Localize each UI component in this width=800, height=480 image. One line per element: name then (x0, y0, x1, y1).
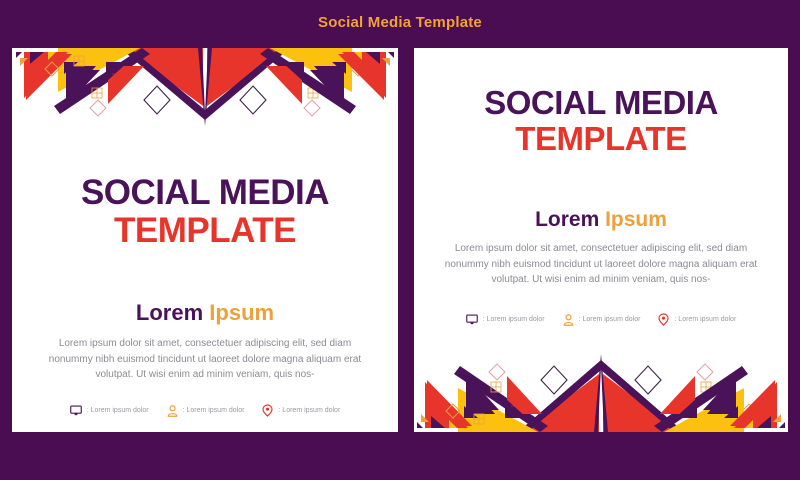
left-card-subheading: Lorem Ipsum (12, 300, 398, 326)
contact-label: : Lorem ipsum dolor (483, 316, 545, 323)
location-pin-icon (658, 313, 669, 326)
monitor-icon (70, 405, 82, 416)
contact-item[interactable]: : Lorem ipsum dolor (70, 405, 149, 416)
location-pin-icon (262, 404, 273, 417)
left-card-body-text: Lorem ipsum dolor sit amet, consectetuer… (48, 336, 362, 383)
contact-item[interactable]: : Lorem ipsum dolor (167, 405, 245, 417)
contact-label: : Lorem ipsum dolor (87, 407, 149, 414)
contact-item[interactable]: : Lorem ipsum dolor (466, 314, 545, 325)
contact-label: : Lorem ipsum dolor (183, 407, 245, 414)
contact-item[interactable]: : Lorem ipsum dolor (262, 404, 340, 417)
left-card-headline: SOCIAL MEDIA TEMPLATE (12, 174, 398, 250)
right-template-card[interactable]: SOCIAL MEDIA TEMPLATE Lorem Ipsum Lorem … (414, 48, 788, 432)
headline-line-2: TEMPLATE (12, 212, 398, 250)
right-card-subheading: Lorem Ipsum (414, 208, 788, 232)
poster-canvas: Social Media Template (0, 0, 800, 480)
person-icon (167, 405, 178, 417)
subheading-part-1: Lorem (136, 300, 203, 325)
left-template-card[interactable]: SOCIAL MEDIA TEMPLATE Lorem Ipsum Lorem … (12, 48, 398, 432)
contact-label: : Lorem ipsum dolor (278, 407, 340, 414)
left-card-contact-row: : Lorem ipsum dolor : Lorem ipsum dolor … (32, 404, 378, 417)
contact-item[interactable]: : Lorem ipsum dolor (563, 314, 641, 326)
right-card-contact-row: : Lorem ipsum dolor : Lorem ipsum dolor … (432, 313, 770, 326)
geometric-pattern-top (12, 48, 398, 140)
right-card-headline: SOCIAL MEDIA TEMPLATE (414, 85, 788, 156)
contact-item[interactable]: : Lorem ipsum dolor (658, 313, 736, 326)
page-title: Social Media Template (0, 14, 800, 31)
subheading-part-2: Ipsum (209, 300, 274, 325)
subheading-part-1: Lorem (535, 208, 599, 231)
right-card-body-text: Lorem ipsum dolor sit amet, consectetuer… (444, 241, 758, 288)
monitor-icon (466, 314, 478, 325)
contact-label: : Lorem ipsum dolor (674, 316, 736, 323)
headline-line-1: SOCIAL MEDIA (12, 174, 398, 212)
headline-line-1: SOCIAL MEDIA (414, 85, 788, 121)
subheading-part-2: Ipsum (605, 208, 667, 231)
person-icon (563, 314, 574, 326)
geometric-pattern-bottom (414, 340, 788, 432)
headline-line-2: TEMPLATE (414, 121, 788, 157)
contact-label: : Lorem ipsum dolor (579, 316, 641, 323)
